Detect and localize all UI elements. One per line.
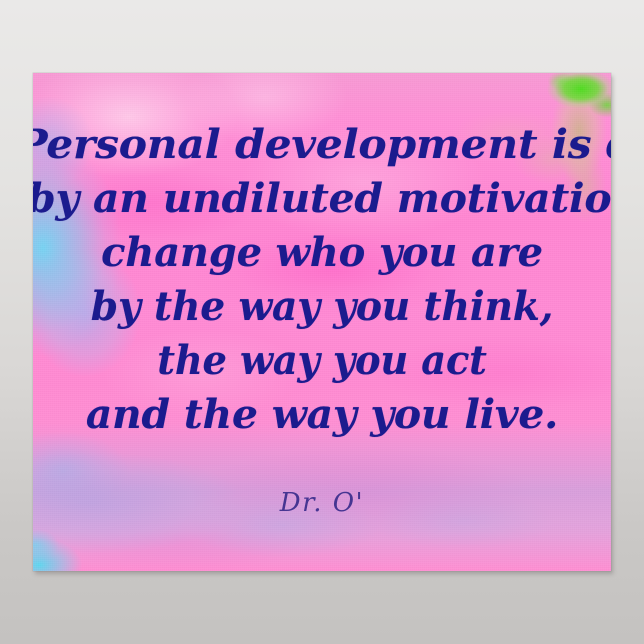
- quote-line-2: by an undiluted motivation to: [33, 179, 611, 219]
- quote-poster[interactable]: Personal development is driven by an und…: [33, 73, 611, 571]
- quote-text-block: Personal development is driven by an und…: [33, 125, 611, 435]
- quote-line-4: by the way you think,: [39, 287, 605, 327]
- quote-line-6: and the way you live.: [33, 395, 611, 435]
- quote-line-5: the way you act: [45, 341, 600, 381]
- author-signature: Dr. O': [33, 488, 611, 518]
- quote-line-3: change who you are: [33, 233, 611, 273]
- poster-stage: Personal development is driven by an und…: [33, 73, 611, 571]
- quote-line-1: Personal development is driven: [33, 125, 611, 165]
